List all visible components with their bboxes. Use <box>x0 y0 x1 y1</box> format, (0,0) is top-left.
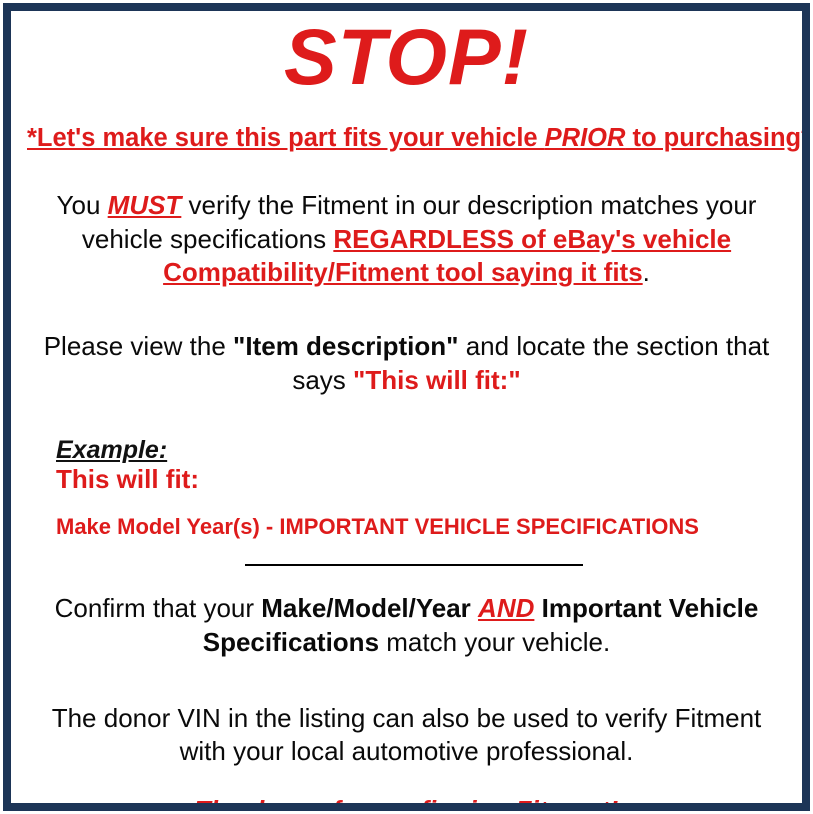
notice-border-frame: STOP! *Let's make sure this part fits yo… <box>3 3 810 811</box>
confirm-part2 <box>471 593 478 623</box>
item-description-emphasis: "Item description" <box>233 331 458 361</box>
tagline-emphasis-prior: PRIOR <box>545 124 626 152</box>
notice-content: STOP! *Let's make sure this part fits yo… <box>11 11 802 803</box>
confirm-part4: match your vehicle. <box>379 627 610 657</box>
and-emphasis: AND <box>478 593 534 623</box>
confirm-part1: Confirm that your <box>55 593 262 623</box>
must-paragraph-part3: . <box>643 257 650 287</box>
thank-you-message: Thank you for confirming Fitment! <box>27 795 786 811</box>
tagline-tail: to purchasing* <box>625 124 810 152</box>
example-fit-heading: This will fit: <box>56 464 786 495</box>
divider-wrapper <box>27 564 786 566</box>
example-block: Example: This will fit: Make Model Year(… <box>27 436 786 540</box>
vin-paragraph: The donor VIN in the listing can also be… <box>27 702 786 770</box>
this-will-fit-emphasis: "This will fit:" <box>353 365 521 395</box>
confirm-paragraph: Confirm that your Make/Model/Year AND Im… <box>27 592 786 660</box>
item-description-paragraph: Please view the "Item description" and l… <box>27 330 786 398</box>
make-model-year-emphasis: Make/Model/Year <box>261 593 471 623</box>
section-divider <box>245 564 583 566</box>
notice-page: STOP! *Let's make sure this part fits yo… <box>0 0 813 814</box>
tagline-lead: *Let's make sure this part fits your veh… <box>27 124 545 152</box>
example-spec-line: Make Model Year(s) - IMPORTANT VEHICLE S… <box>56 514 786 540</box>
view-paragraph-part1: Please view the <box>44 331 233 361</box>
must-emphasis: MUST <box>108 190 182 220</box>
tagline: *Let's make sure this part fits your veh… <box>27 124 786 153</box>
confirm-part3 <box>534 593 541 623</box>
page-title: STOP! <box>27 11 786 98</box>
must-paragraph-part1: You <box>57 190 108 220</box>
example-label: Example: <box>56 436 786 465</box>
must-verify-paragraph: You MUST verify the Fitment in our descr… <box>27 189 786 290</box>
